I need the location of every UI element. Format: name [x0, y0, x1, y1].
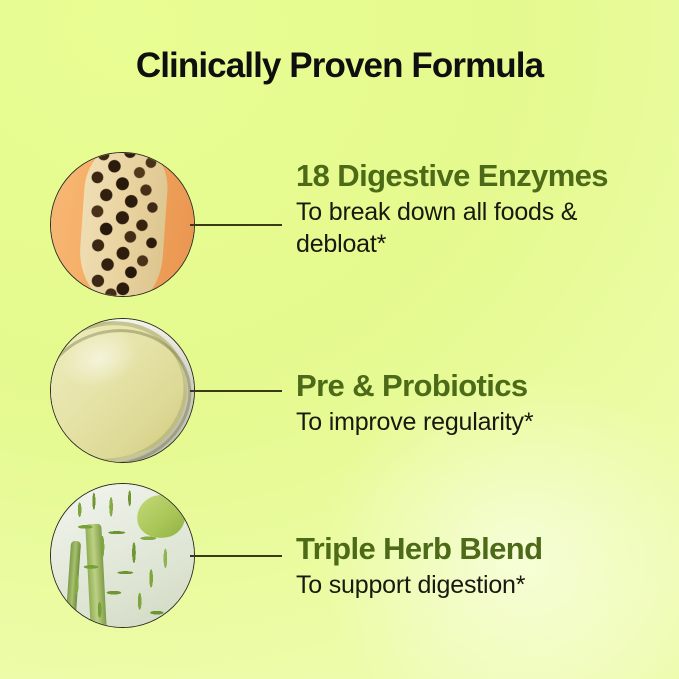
papaya-seeds-photo [50, 152, 195, 297]
feature-row-digestive-enzymes: 18 Digestive Enzymes To break down all f… [0, 152, 679, 302]
feature-title: 18 Digestive Enzymes [296, 158, 656, 194]
clinically-proven-formula-infographic: Clinically Proven Formula 18 Digestive E… [0, 0, 679, 679]
papaya-seed-cluster [80, 152, 168, 297]
feature-subtitle: To support digestion* [296, 569, 656, 602]
feature-subtitle: To break down all foods & debloat* [296, 196, 656, 261]
fennel-fronds-photo [50, 483, 195, 628]
feature-text-block: Triple Herb Blend To support digestion* [296, 531, 656, 601]
feature-row-triple-herb-blend: Triple Herb Blend To support digestion* [0, 483, 679, 633]
feature-text-block: 18 Digestive Enzymes To break down all f… [296, 158, 656, 261]
feature-subtitle: To improve regularity* [296, 406, 656, 439]
feature-text-block: Pre & Probiotics To improve regularity* [296, 368, 656, 438]
page-title: Clinically Proven Formula [0, 46, 679, 86]
connector-line [190, 224, 282, 226]
feature-row-pre-probiotics: Pre & Probiotics To improve regularity* [0, 318, 679, 468]
papaya-illustration [51, 153, 194, 296]
feature-title: Triple Herb Blend [296, 531, 656, 567]
connector-line [190, 555, 282, 557]
petri-dish-illustration [51, 319, 194, 462]
petri-dish-photo [50, 318, 195, 463]
feature-title: Pre & Probiotics [296, 368, 656, 404]
fennel-illustration [51, 484, 194, 627]
connector-line [190, 390, 282, 392]
